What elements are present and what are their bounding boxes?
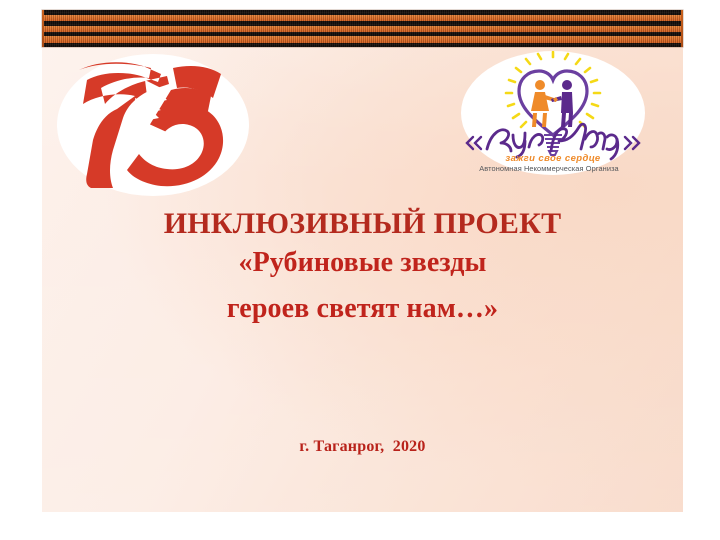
ribbon-orange-stripe bbox=[42, 36, 683, 43]
anniversary-75-logo bbox=[57, 54, 249, 196]
ray-of-hope-logo: зажги свое сердце Автономная Некоммерчес… bbox=[461, 51, 645, 175]
ribbon-orange-stripe bbox=[42, 15, 683, 22]
project-name-line-2: героев светят нам…» bbox=[42, 289, 683, 329]
page-title: ИНКЛЮЗИВНЫЙ ПРОЕКТ bbox=[42, 205, 683, 243]
organization-slogan: зажги свое сердце bbox=[505, 153, 601, 164]
slide-title-block: ИНКЛЮЗИВНЫЙ ПРОЕКТ «Рубиновые звезды гер… bbox=[42, 205, 683, 329]
place-and-year: г. Таганрог, 2020 bbox=[42, 438, 683, 456]
ribbon-orange-stripe bbox=[42, 26, 683, 33]
st-george-ribbon bbox=[42, 10, 683, 47]
presentation-slide: зажги свое сердце Автономная Некоммерчес… bbox=[0, 0, 720, 540]
heart-bulb-icon bbox=[519, 71, 587, 135]
girl-figure-icon bbox=[531, 80, 557, 127]
ribbon-left-edge bbox=[42, 10, 44, 47]
organization-type: Автономная Некоммерческая Организа bbox=[479, 164, 619, 173]
boy-figure-icon bbox=[551, 80, 573, 127]
project-name-line-1: «Рубиновые звезды bbox=[42, 243, 683, 283]
ribbon-right-edge bbox=[681, 10, 683, 47]
